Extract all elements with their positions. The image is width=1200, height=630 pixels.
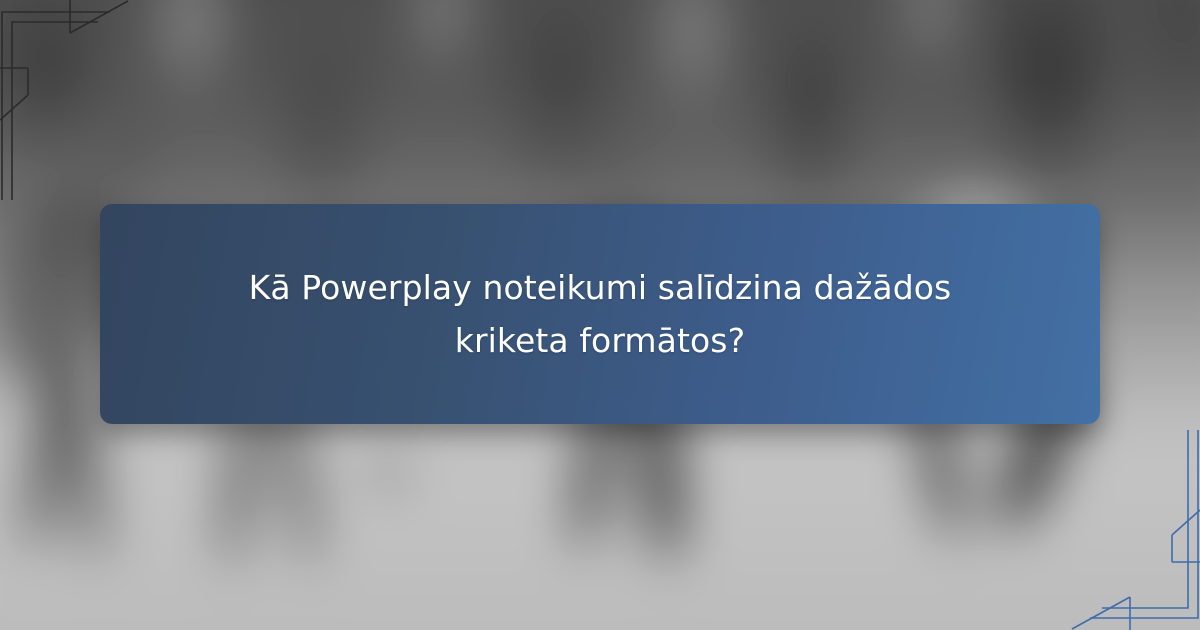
page-title: Kā Powerplay noteikumi salīdzina dažādos… [230, 261, 970, 368]
og-card-canvas: Kā Powerplay noteikumi salīdzina dažādos… [0, 0, 1200, 630]
background-ball [370, 460, 406, 486]
headline-card: Kā Powerplay noteikumi salīdzina dažādos… [100, 204, 1100, 424]
